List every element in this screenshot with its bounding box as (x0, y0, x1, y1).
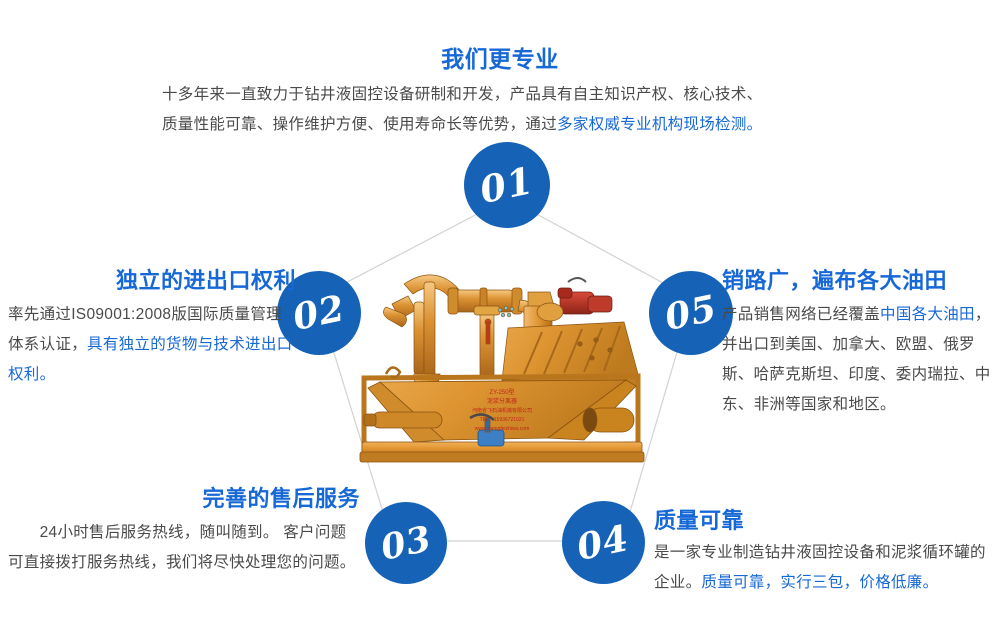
br-body-highlight: 质量可靠，实行三包，价格低廉。 (701, 574, 938, 591)
top-line2-plain: 质量性能可靠、操作维护方便、使用寿命长等优势，通过 (162, 116, 557, 133)
step-circle-05[interactable]: 05 (649, 271, 733, 355)
feature-body-right: 产品销售网络已经覆盖中国各大油田，并出口到美国、加拿大、欧盟、俄罗斯、哈萨克斯坦… (722, 300, 994, 420)
feature-title-bottom-right: 质量可靠 (654, 506, 994, 536)
step-circle-01[interactable]: 01 (464, 142, 550, 228)
decal-tel: TEL：15936721031 (480, 417, 525, 423)
infographic-canvas: ZY-250型 泥浆分离器 河南省飞石油机械有限公司 TEL：159367210… (0, 0, 1000, 642)
feature-body-top-line1: 十多年来一直致力于钻井液固控设备研制和开发，产品具有自主知识产权、核心技术、 (150, 80, 850, 110)
feature-body-left: 率先通过IS09001:2008版国际质量管理体系认证，具有独立的货物与技术进出… (8, 300, 296, 390)
step-number-04: 04 (574, 517, 634, 569)
top-line2-highlight: 多家权威专业机构现场检测。 (557, 116, 762, 133)
feature-title-top: 我们更专业 (150, 44, 850, 74)
feature-block-bottom-left: 完善的售后服务 24小时售后服务热线，随叫随到。 客户问题可直接拨打服务热线，我… (8, 484, 360, 578)
feature-block-top: 我们更专业 十多年来一直致力于钻井液固控设备研制和开发，产品具有自主知识产权、核… (150, 44, 850, 140)
step-circle-03[interactable]: 03 (365, 502, 447, 584)
decal-model: ZY-250型 (489, 388, 514, 396)
step-number-03: 03 (377, 518, 435, 569)
feature-body-bottom-right: 是一家专业制造钻井液固控设备和泥浆循环罐的企业。质量可靠，实行三包，价格低廉。 (654, 538, 994, 598)
feature-title-right: 销路广，遍布各大油田 (722, 266, 994, 296)
feature-block-right: 销路广，遍布各大油田 产品销售网络已经覆盖中国各大油田，并出口到美国、加拿大、欧… (722, 266, 994, 420)
feature-block-bottom-right: 质量可靠 是一家专业制造钻井液固控设备和泥浆循环罐的企业。质量可靠，实行三包，价… (654, 506, 994, 598)
feature-title-bottom-left: 完善的售后服务 (8, 484, 360, 514)
step-circle-04[interactable]: 04 (562, 501, 645, 584)
decal-web: www.shengfeizhiwu.com (475, 426, 529, 432)
feature-block-left: 独立的进出口权利 率先通过IS09001:2008版国际质量管理体系认证，具有独… (8, 266, 296, 390)
step-number-05: 05 (661, 287, 721, 339)
right-body-plain-1: 产品销售网络已经覆盖 (722, 306, 880, 323)
step-number-02: 02 (289, 287, 349, 339)
product-photo: ZY-250型 泥浆分离器 河南省飞石油机械有限公司 TEL：159367210… (352, 262, 650, 484)
feature-body-top-line2: 质量性能可靠、操作维护方便、使用寿命长等优势，通过多家权威专业机构现场检测。 (150, 110, 850, 140)
right-body-highlight: 中国各大油田 (880, 306, 975, 323)
feature-body-bottom-left: 24小时售后服务热线，随叫随到。 客户问题可直接拨打服务热线，我们将尽快处理您的… (8, 518, 360, 578)
step-number-01: 01 (476, 158, 537, 212)
photo-tank-frame (360, 367, 644, 462)
decal-name: 泥浆分离器 (487, 397, 517, 405)
feature-title-left: 独立的进出口权利 (8, 266, 296, 296)
decal-company: 河南省飞石油机械有限公司 (472, 407, 532, 414)
